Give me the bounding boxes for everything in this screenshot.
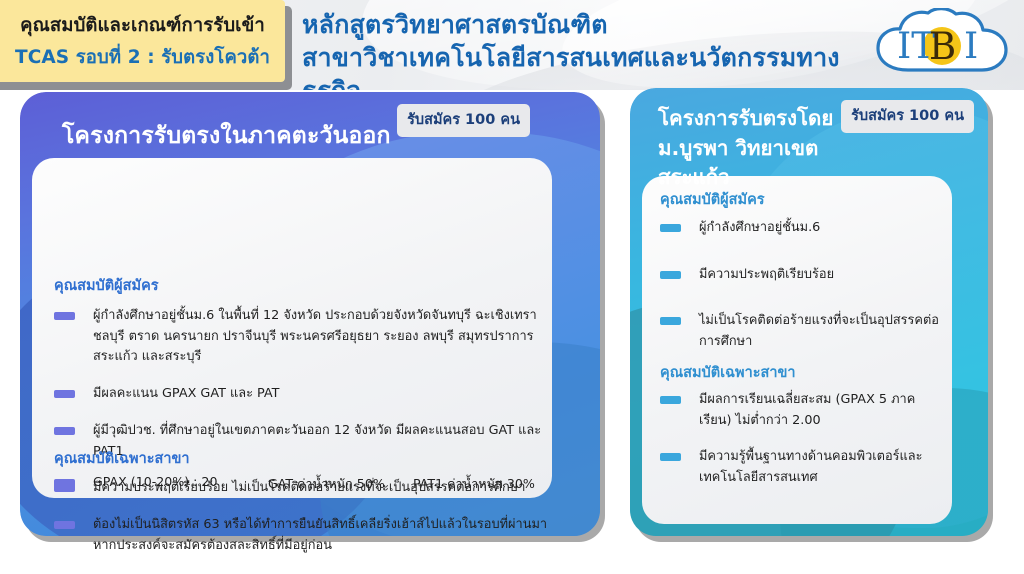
left-card-quota-badge: รับสมัคร 100 คน	[397, 104, 530, 137]
right-card-quota-badge: รับสมัคร 100 คน	[841, 100, 974, 133]
criteria-pat1: PAT1 ค่าน้ำหนัก 30%	[413, 474, 535, 494]
right-section2-heading: คุณสมบัติเฉพาะสาขา	[660, 361, 796, 384]
right-card-bullet-list: ผู้กำลังศึกษาอยู่ชั้นม.6 มีความประพฤติเร…	[660, 218, 940, 353]
criteria-gpax: GPAX (10-20%) : 20	[93, 474, 268, 494]
list-item-text: มีความรู้พื้นฐานทางด้านคอมพิวเตอร์และ เท…	[699, 447, 944, 488]
list-item: ผู้กำลังศึกษาอยู่ชั้นม.6 ในพื้นที่ 12 จั…	[54, 306, 554, 368]
logo-text-b: B	[929, 25, 956, 68]
list-item: ต้องไม่เป็นนิสิตรหัส 63 หรือได้ทำการยืนย…	[54, 515, 554, 556]
left-card-bullet-list: ผู้กำลังศึกษาอยู่ชั้นม.6 ในพื้นที่ 12 จั…	[54, 306, 554, 556]
bullet-dash-icon	[660, 271, 681, 279]
bullet-dash-icon	[54, 427, 75, 435]
left-card-section1: คุณสมบัติผู้สมัคร	[54, 274, 554, 297]
yellow-banner: คุณสมบัติและเกณฑ์การรับเข้า TCAS รอบที่ …	[0, 0, 285, 82]
right-card-spec-list: มีผลการเรียนเฉลี่ยสะสม (GPAX 5 ภาคเรียน)…	[660, 390, 945, 489]
page-title-line1: หลักสูตรวิทยาศาสตรบัณฑิต	[302, 8, 882, 41]
left-section2-heading: คุณสมบัติเฉพาะสาขา	[54, 447, 190, 470]
bullet-dash-icon	[54, 521, 75, 529]
list-item-text: ต้องไม่เป็นนิสิตรหัส 63 หรือได้ทำการยืนย…	[93, 515, 553, 556]
yellow-banner-line1: คุณสมบัติและเกณฑ์การรับเข้า	[20, 11, 265, 40]
infographic-canvas: คุณสมบัติและเกณฑ์การรับเข้า TCAS รอบที่ …	[0, 0, 1024, 574]
card-east-direct-admission: โครงการรับตรงในภาคตะวันออก รับสมัคร 100 …	[20, 92, 600, 536]
right-card-section2: คุณสมบัติเฉพาะสาขา	[660, 361, 796, 384]
bullet-dash-icon	[660, 224, 681, 232]
itbi-cloud-logo: IT B I	[872, 8, 1012, 84]
criteria-gat: GAT ค่าน้ำหนัก 50%	[268, 474, 413, 494]
bullet-dash-icon	[54, 390, 75, 398]
card-burapha-sakaeo-admission: โครงการรับตรงโดย ม.บูรพา วิทยาเขตสระแก้ว…	[630, 88, 988, 536]
bullet-dash-icon	[54, 479, 75, 487]
list-item: ผู้กำลังศึกษาอยู่ชั้นม.6	[660, 218, 940, 239]
header-band: คุณสมบัติและเกณฑ์การรับเข้า TCAS รอบที่ …	[0, 0, 1024, 90]
list-item: มีผลการเรียนเฉลี่ยสะสม (GPAX 5 ภาคเรียน)…	[660, 390, 945, 431]
left-card-section2: คุณสมบัติเฉพาะสาขา	[54, 447, 190, 470]
right-card-title-line2: ม.บูรพา วิทยาเขตสระแก้ว	[658, 134, 873, 193]
list-item-text: ไม่เป็นโรคติดต่อร้ายแรงที่จะเป็นอุปสรรคต…	[699, 311, 940, 352]
list-item-text: ผู้กำลังศึกษาอยู่ชั้นม.6 ในพื้นที่ 12 จั…	[93, 306, 553, 368]
bullet-dash-icon	[660, 317, 681, 325]
list-item: มีความประพฤติเรียบร้อย	[660, 265, 940, 286]
list-item-text: ผู้กำลังศึกษาอยู่ชั้นม.6	[699, 218, 820, 239]
list-item-text: มีผลคะแนน GPAX GAT และ PAT	[93, 384, 280, 405]
list-item: ไม่เป็นโรคติดต่อร้ายแรงที่จะเป็นอุปสรรคต…	[660, 311, 940, 352]
left-card-title: โครงการรับตรงในภาคตะวันออก	[62, 118, 391, 154]
left-section1-heading: คุณสมบัติผู้สมัคร	[54, 274, 554, 297]
yellow-banner-line2: TCAS รอบที่ 2 : รับตรงโควต้า	[15, 43, 270, 72]
logo-text-i: I	[964, 26, 978, 67]
list-item-text: มีความประพฤติเรียบร้อย	[699, 265, 834, 286]
list-item-text: มีผลการเรียนเฉลี่ยสะสม (GPAX 5 ภาคเรียน)…	[699, 390, 944, 431]
bullet-dash-icon	[54, 312, 75, 320]
left-card-criteria-row: GPAX (10-20%) : 20 GAT ค่าน้ำหนัก 50% PA…	[54, 474, 554, 494]
list-item: มีผลคะแนน GPAX GAT และ PAT	[54, 384, 554, 405]
bullet-dash-icon	[660, 453, 681, 461]
bullet-dash-icon	[660, 396, 681, 404]
page-title: หลักสูตรวิทยาศาสตรบัณฑิต สาขาวิชาเทคโนโล…	[302, 8, 882, 90]
list-item: มีความรู้พื้นฐานทางด้านคอมพิวเตอร์และ เท…	[660, 447, 945, 488]
page-title-line2: สาขาวิชาเทคโนโลยีสารสนเทศและนวัตกรรมทางธ…	[302, 41, 882, 90]
